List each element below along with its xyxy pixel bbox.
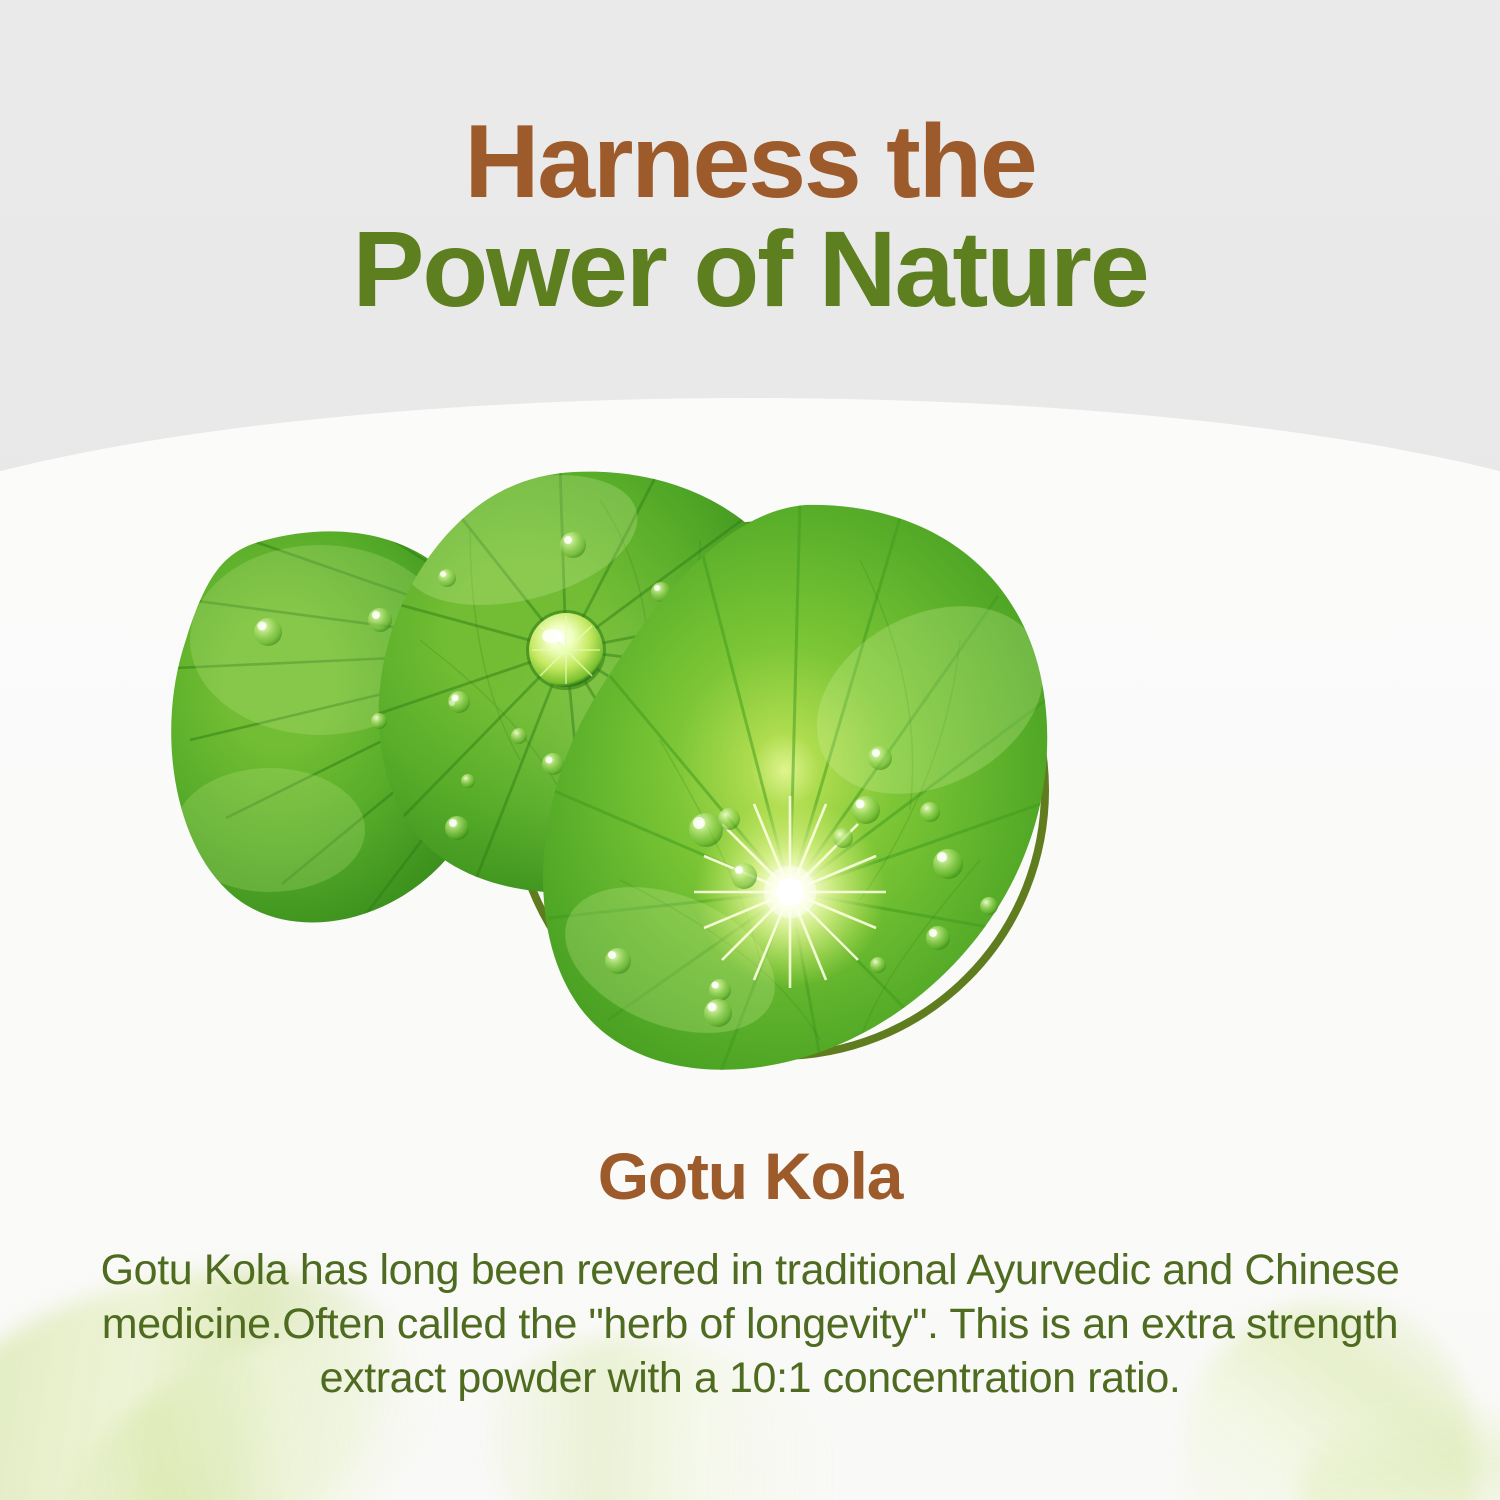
ingredient-title: Gotu Kola (0, 1138, 1500, 1214)
hero-illustration (0, 0, 1500, 1180)
ingredient-feature-poster: Harness the Power of Nature (0, 0, 1500, 1500)
leaf-upper-center-droplet (526, 610, 606, 690)
ingredient-description: Gotu Kola has long been revered in tradi… (78, 1243, 1422, 1406)
gotu-kola-leaves-graphic (0, 0, 1500, 1180)
